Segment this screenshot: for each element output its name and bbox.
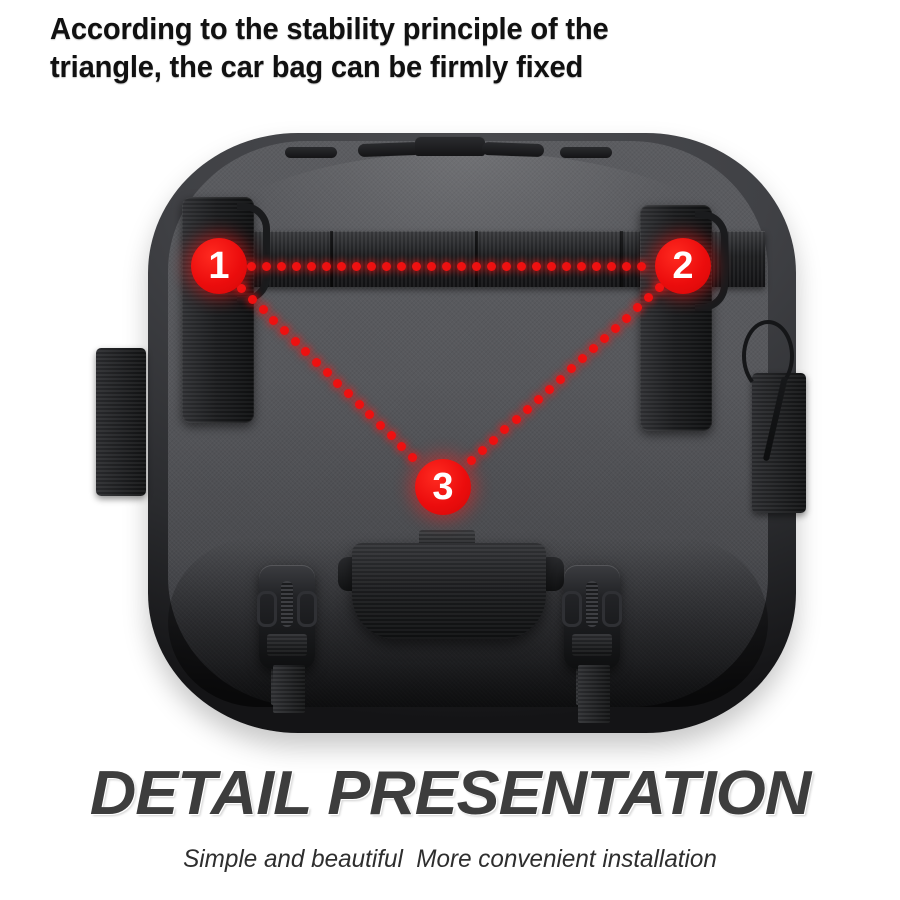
- product-image: 123: [0, 105, 900, 745]
- side-release-buckle-right: [564, 565, 620, 669]
- buckle-tail-right: [578, 665, 610, 723]
- top-grab-handle: [415, 136, 485, 156]
- top-seam-right-outer: [560, 147, 612, 158]
- buckle-ear-left: [562, 591, 582, 627]
- top-seam-left-outer: [285, 147, 337, 158]
- side-release-buckle-left: [259, 565, 315, 669]
- buckle-ear-left: [257, 591, 277, 627]
- band-seam: [620, 231, 623, 287]
- buckle-tail-left: [273, 665, 305, 713]
- band-seam: [475, 231, 478, 287]
- band-seam: [330, 231, 333, 287]
- buckle-ear-right: [297, 591, 317, 627]
- headline-text: According to the stability principle of …: [50, 10, 652, 86]
- footer-title: DETAIL PRESENTATION: [0, 758, 900, 829]
- bottom-mounting-strap: [352, 543, 546, 639]
- buckle-ear-right: [602, 591, 622, 627]
- mounting-strap-right: [640, 205, 712, 431]
- mounting-strap-left: [182, 197, 254, 423]
- footer-subtitle: Simple and beautiful More convenient ins…: [14, 845, 887, 874]
- top-seam-left: [358, 142, 420, 157]
- strap-loop-left: [237, 203, 270, 303]
- strap-loop-right: [695, 211, 728, 311]
- top-seam-right: [482, 142, 544, 157]
- side-webbing-tab-left: [96, 348, 146, 496]
